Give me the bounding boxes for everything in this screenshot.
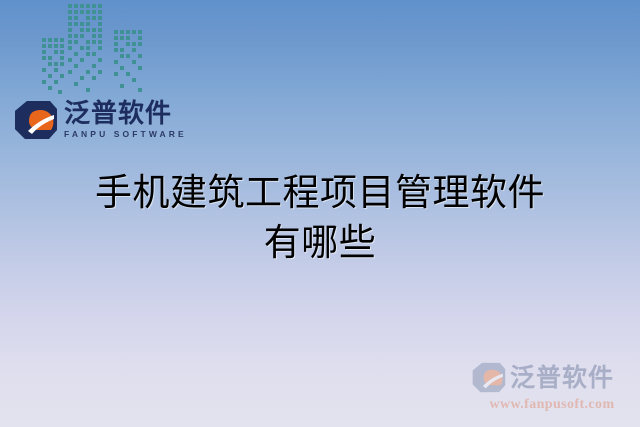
page-title-line-1: 手机建筑工程项目管理软件	[0, 168, 640, 218]
watermark-chinese-name: 泛普软件	[510, 365, 614, 390]
promo-banner: 泛普软件 FANPU SOFTWARE 手机建筑工程项目管理软件 有哪些 泛普软…	[0, 0, 640, 427]
page-title: 手机建筑工程项目管理软件 有哪些	[0, 168, 640, 268]
watermark-url: www.fanpusoft.com	[472, 397, 632, 413]
fanpu-swoosh-logo-icon	[14, 100, 58, 140]
watermark-logo-row: 泛普软件	[472, 359, 632, 395]
brand-logo: 泛普软件 FANPU SOFTWARE	[14, 97, 186, 143]
logo-english-name: FANPU SOFTWARE	[64, 129, 187, 139]
page-title-line-2: 有哪些	[0, 218, 640, 268]
logo-wordmark: 泛普软件 FANPU SOFTWARE	[64, 101, 187, 140]
pixel-building-skyline-icon	[40, 0, 152, 96]
brand-watermark: 泛普软件 www.fanpusoft.com	[472, 359, 632, 417]
logo-chinese-name: 泛普软件	[64, 101, 187, 128]
fanpu-swoosh-watermark-icon	[472, 362, 506, 393]
